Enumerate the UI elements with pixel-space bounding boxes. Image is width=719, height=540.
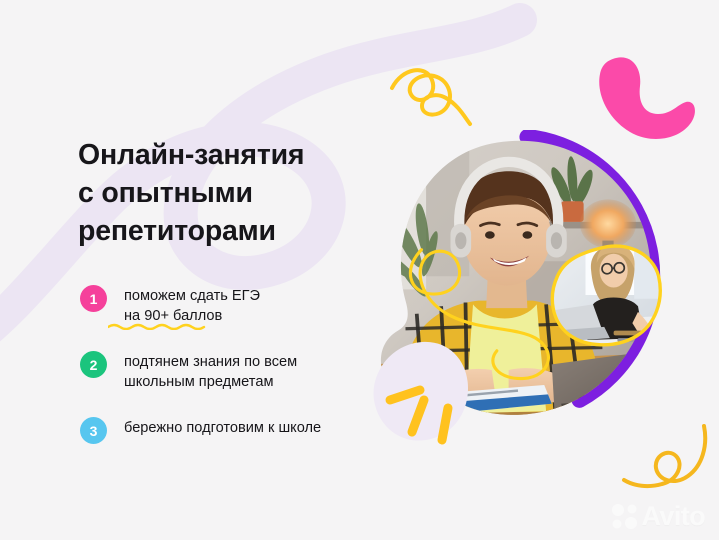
avito-wordmark: Avito bbox=[642, 501, 706, 532]
list-number-badge-1: 1 bbox=[80, 285, 107, 312]
yellow-squiggle-top-left-icon bbox=[388, 58, 484, 132]
avito-watermark: Avito bbox=[610, 501, 706, 532]
banner-root: Онлайн-занятия с опытными репетиторами 1… bbox=[0, 0, 719, 540]
headline-block: Онлайн-занятия с опытными репетиторами bbox=[78, 136, 398, 250]
photo-stage bbox=[368, 130, 688, 450]
wavy-underline-icon bbox=[108, 323, 206, 330]
main-photo bbox=[368, 130, 668, 430]
list-item-text: поможем сдать ЕГЭ на 90+ баллов bbox=[124, 284, 260, 326]
page-title: Онлайн-занятия с опытными репетиторами bbox=[78, 136, 398, 250]
list-number-badge-2: 2 bbox=[80, 351, 107, 378]
avito-dots-icon bbox=[610, 502, 640, 532]
list-item-text: бережно подготовим к школе bbox=[124, 416, 321, 438]
list-item-text: подтянем знания по всем школьным предмет… bbox=[124, 350, 297, 392]
list-number-badge-3: 3 bbox=[80, 417, 107, 444]
